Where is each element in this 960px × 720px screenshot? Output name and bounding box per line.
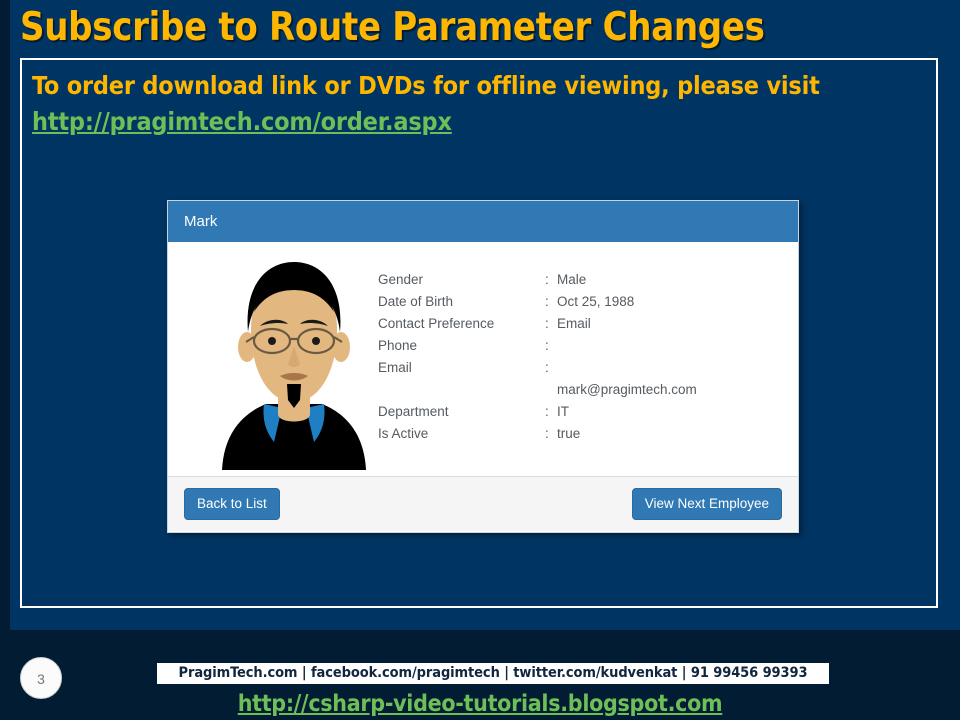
footer-credits: PragimTech.com | facebook.com/pragimtech… xyxy=(157,663,829,684)
detail-separator xyxy=(545,380,555,400)
detail-value: Email xyxy=(557,314,697,334)
employee-detail-card: Mark xyxy=(167,200,799,533)
employee-avatar xyxy=(204,252,384,470)
detail-separator: : xyxy=(545,424,555,444)
detail-value: Male xyxy=(557,270,697,290)
detail-label: Date of Birth xyxy=(378,292,543,312)
table-row: Is Active : true xyxy=(378,424,697,444)
table-row: Department : IT xyxy=(378,402,697,422)
view-next-employee-button[interactable]: View Next Employee xyxy=(632,488,782,520)
table-row: Gender : Male xyxy=(378,270,697,290)
detail-value: true xyxy=(557,424,697,444)
card-footer: Back to List View Next Employee xyxy=(168,477,798,531)
table-row: Phone : xyxy=(378,336,697,356)
card-header-title: Mark xyxy=(168,201,798,242)
detail-separator: : xyxy=(545,270,555,290)
slide-left-band xyxy=(0,0,10,632)
detail-label xyxy=(378,380,543,400)
back-to-list-button[interactable]: Back to List xyxy=(184,488,280,520)
detail-label: Email xyxy=(378,358,543,378)
content-box: To order download link or DVDs for offli… xyxy=(20,58,938,608)
order-link[interactable]: http://pragimtech.com/order.aspx xyxy=(32,106,452,137)
detail-separator: : xyxy=(545,292,555,312)
employee-detail-table: Gender : Male Date of Birth : Oct 25, 19… xyxy=(376,268,699,446)
detail-value-email: mark@pragimtech.com xyxy=(557,380,697,400)
order-notice-text: To order download link or DVDs for offli… xyxy=(32,70,922,101)
table-row: Contact Preference : Email xyxy=(378,314,697,334)
detail-value: IT xyxy=(557,402,697,422)
detail-separator: : xyxy=(545,314,555,334)
detail-separator: : xyxy=(545,336,555,356)
footer-blog-link[interactable]: http://csharp-video-tutorials.blogspot.c… xyxy=(0,690,960,718)
detail-separator: : xyxy=(545,358,555,378)
detail-value xyxy=(557,358,697,378)
detail-label: Is Active xyxy=(378,424,543,444)
table-row: mark@pragimtech.com xyxy=(378,380,697,400)
detail-separator: : xyxy=(545,402,555,422)
detail-label: Department xyxy=(378,402,543,422)
detail-label: Phone xyxy=(378,336,543,356)
detail-value xyxy=(557,336,697,356)
detail-label: Contact Preference xyxy=(378,314,543,334)
detail-value: Oct 25, 1988 xyxy=(557,292,697,312)
card-body: Gender : Male Date of Birth : Oct 25, 19… xyxy=(168,242,798,477)
detail-label: Gender xyxy=(378,270,543,290)
table-row: Date of Birth : Oct 25, 1988 xyxy=(378,292,697,312)
table-row: Email : xyxy=(378,358,697,378)
avatar-illustration-icon xyxy=(204,252,384,470)
slide-canvas: Subscribe to Route Parameter Changes To … xyxy=(0,0,960,720)
page-title: Subscribe to Route Parameter Changes xyxy=(20,6,912,52)
